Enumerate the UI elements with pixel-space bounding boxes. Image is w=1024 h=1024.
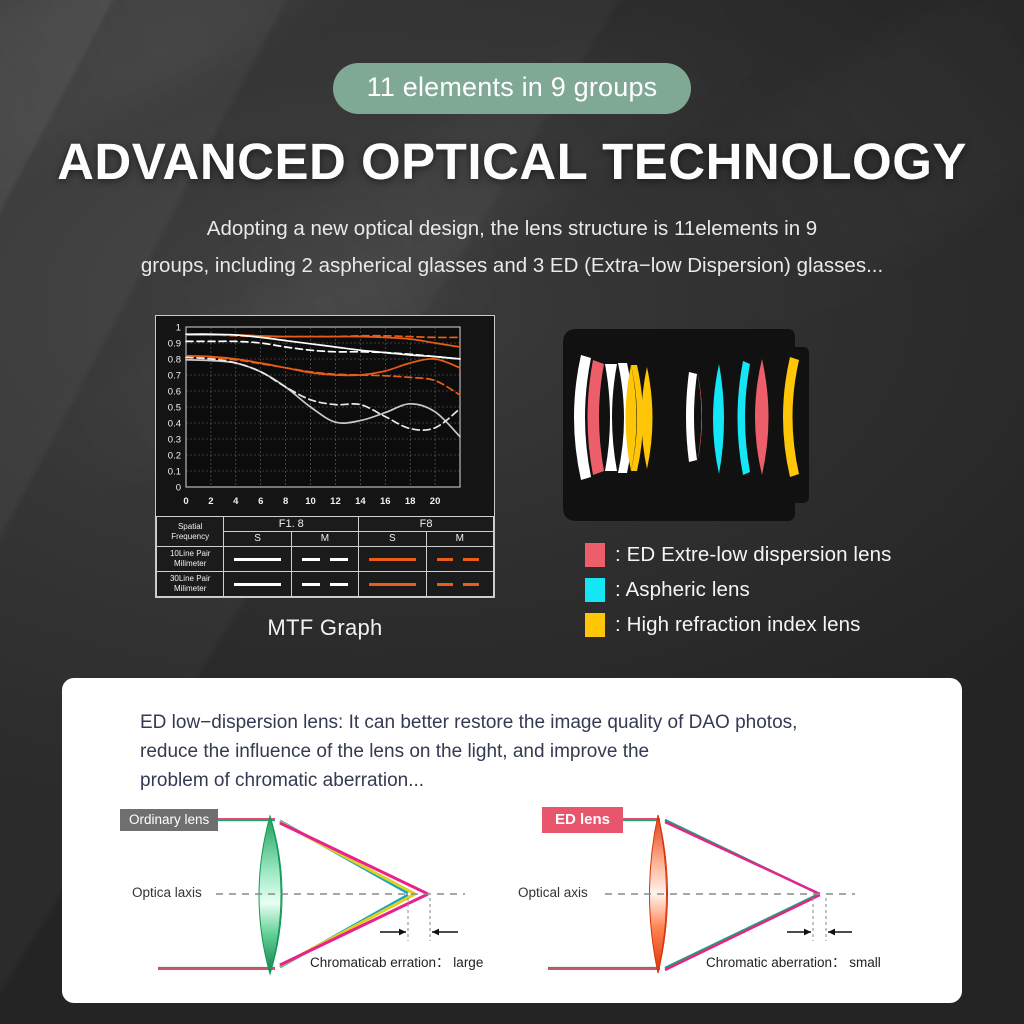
legend-label-ed: : ED Extre-low dispersion lens	[615, 543, 891, 567]
mtf-chart-svg: 00.10.20.30.40.50.60.70.80.91 0246810121…	[156, 316, 494, 516]
elements-groups-badge: 11 elements in 9 groups	[333, 63, 692, 114]
legend-item-aspheric: : Aspheric lens	[585, 578, 945, 602]
lens-structure-block: : ED Extre-low dispersion lens : Aspheri…	[545, 315, 945, 655]
sample-30-f8-s	[359, 572, 426, 597]
ed-optical-axis-label: Optical axis	[518, 885, 588, 900]
comparison-diagrams: Ordinary lens Optica laxis Chromaticab e…	[62, 801, 962, 991]
sample-30-f18-s	[224, 572, 291, 597]
svg-text:0.9: 0.9	[168, 338, 181, 349]
lens-legend: : ED Extre-low dispersion lens : Aspheri…	[585, 543, 945, 637]
subheader-f18-s: S	[224, 532, 291, 547]
lens-cross-section-diagram	[555, 315, 830, 535]
svg-text:16: 16	[380, 496, 391, 507]
mtf-graph-caption: MTF Graph	[155, 615, 495, 641]
svg-text:2: 2	[208, 496, 213, 507]
sample-10-f8-s	[359, 547, 426, 572]
ordinary-lens-diagram: Ordinary lens Optica laxis Chromaticab e…	[110, 801, 540, 991]
svg-text:4: 4	[233, 496, 239, 507]
svg-text:12: 12	[330, 496, 341, 507]
page-root: 11 elements in 9 groups ADVANCED OPTICAL…	[0, 0, 1024, 1024]
legend-label-aspheric: : Aspheric lens	[615, 578, 750, 602]
subheader-f8-s: S	[359, 532, 426, 547]
svg-text:0.5: 0.5	[168, 402, 181, 413]
ed-lens-info-panel: ED low−dispersion lens: It can better re…	[62, 678, 962, 1003]
legend-label-high-index: : High refraction index lens	[615, 613, 861, 637]
aperture-header-f18: F1. 8	[224, 517, 359, 532]
page-subtitle: Adopting a new optical design, the lens …	[0, 210, 1024, 284]
svg-text:0.3: 0.3	[168, 434, 181, 445]
svg-text:0.8: 0.8	[168, 354, 181, 365]
ordinary-aberration-caption: Chromaticab erration： large	[310, 951, 483, 971]
spatial-label-line2: Frequency	[171, 532, 209, 541]
mtf-table-row-30lpmm: 30Line Pair Milimeter	[157, 572, 494, 597]
aspheric-lens-swatch	[585, 578, 605, 602]
page-title: ADVANCED OPTICAL TECHNOLOGY	[0, 132, 1024, 191]
mtf-table-row-10lpmm: 10Line Pair Milimeter	[157, 547, 494, 572]
svg-text:18: 18	[405, 496, 416, 507]
spatial-label-line1: Spatial	[178, 522, 202, 531]
mtf-chart: 00.10.20.30.40.50.60.70.80.91 0246810121…	[156, 316, 494, 516]
svg-text:0.6: 0.6	[168, 386, 181, 397]
mtf-legend-table: Spatial Frequency F1. 8 F8 S M S M 10Lin…	[156, 516, 494, 597]
sample-30-f18-m	[291, 572, 358, 597]
panel-text-line-3: problem of chromatic aberration...	[140, 766, 962, 795]
svg-text:0.1: 0.1	[168, 466, 181, 477]
panel-text-line-2: reduce the influence of the lens on the …	[140, 737, 962, 766]
row1-label-line2: Milimeter	[174, 584, 206, 593]
legend-item-ed: : ED Extre-low dispersion lens	[585, 543, 945, 567]
ed-lens-diagram: ED lens Optical axis Chromatic aberratio…	[510, 801, 940, 991]
mtf-table-header-row: Spatial Frequency F1. 8 F8	[157, 517, 494, 532]
spatial-frequency-header: Spatial Frequency	[157, 517, 224, 547]
row-label-30line: 30Line Pair Milimeter	[157, 572, 224, 597]
subtitle-line-1: Adopting a new optical design, the lens …	[36, 210, 988, 247]
mtf-card: 00.10.20.30.40.50.60.70.80.91 0246810121…	[155, 315, 495, 598]
svg-text:14: 14	[355, 496, 366, 507]
svg-text:6: 6	[258, 496, 263, 507]
sample-10-f18-m	[291, 547, 358, 572]
svg-text:10: 10	[305, 496, 316, 507]
panel-description: ED low−dispersion lens: It can better re…	[62, 678, 962, 795]
row-label-10line: 10Line Pair Milimeter	[157, 547, 224, 572]
row0-label-line1: 10Line Pair	[170, 549, 210, 558]
ordinary-optical-axis-label: Optica laxis	[132, 885, 202, 900]
sample-30-f8-m	[426, 572, 493, 597]
svg-text:0.2: 0.2	[168, 450, 181, 461]
subheader-f18-m: M	[291, 532, 358, 547]
svg-text:0: 0	[176, 482, 181, 493]
ed-lens-swatch	[585, 543, 605, 567]
mtf-block: 00.10.20.30.40.50.60.70.80.91 0246810121…	[155, 315, 495, 641]
badge-row: 11 elements in 9 groups	[0, 0, 1024, 114]
ed-aberration-caption: Chromatic aberration： small	[706, 951, 881, 971]
svg-text:8: 8	[283, 496, 288, 507]
panel-text-line-1: ED low−dispersion lens: It can better re…	[140, 708, 962, 737]
ed-lens-tag: ED lens	[542, 807, 623, 833]
aperture-header-f8: F8	[359, 517, 494, 532]
subheader-f8-m: M	[426, 532, 493, 547]
legend-item-high-index: : High refraction index lens	[585, 613, 945, 637]
high-index-lens-swatch	[585, 613, 605, 637]
row0-label-line2: Milimeter	[174, 559, 206, 568]
svg-text:0: 0	[183, 496, 188, 507]
svg-text:1: 1	[176, 322, 181, 333]
subtitle-line-2: groups, including 2 aspherical glasses a…	[36, 247, 988, 284]
svg-text:20: 20	[430, 496, 441, 507]
sample-10-f8-m	[426, 547, 493, 572]
svg-text:0.7: 0.7	[168, 370, 181, 381]
lens-barrel-shape	[563, 329, 809, 521]
svg-text:0.4: 0.4	[168, 418, 181, 429]
sample-10-f18-s	[224, 547, 291, 572]
lens-cross-section-svg	[555, 315, 830, 535]
ordinary-lens-tag: Ordinary lens	[120, 809, 218, 831]
row1-label-line1: 30Line Pair	[170, 574, 210, 583]
